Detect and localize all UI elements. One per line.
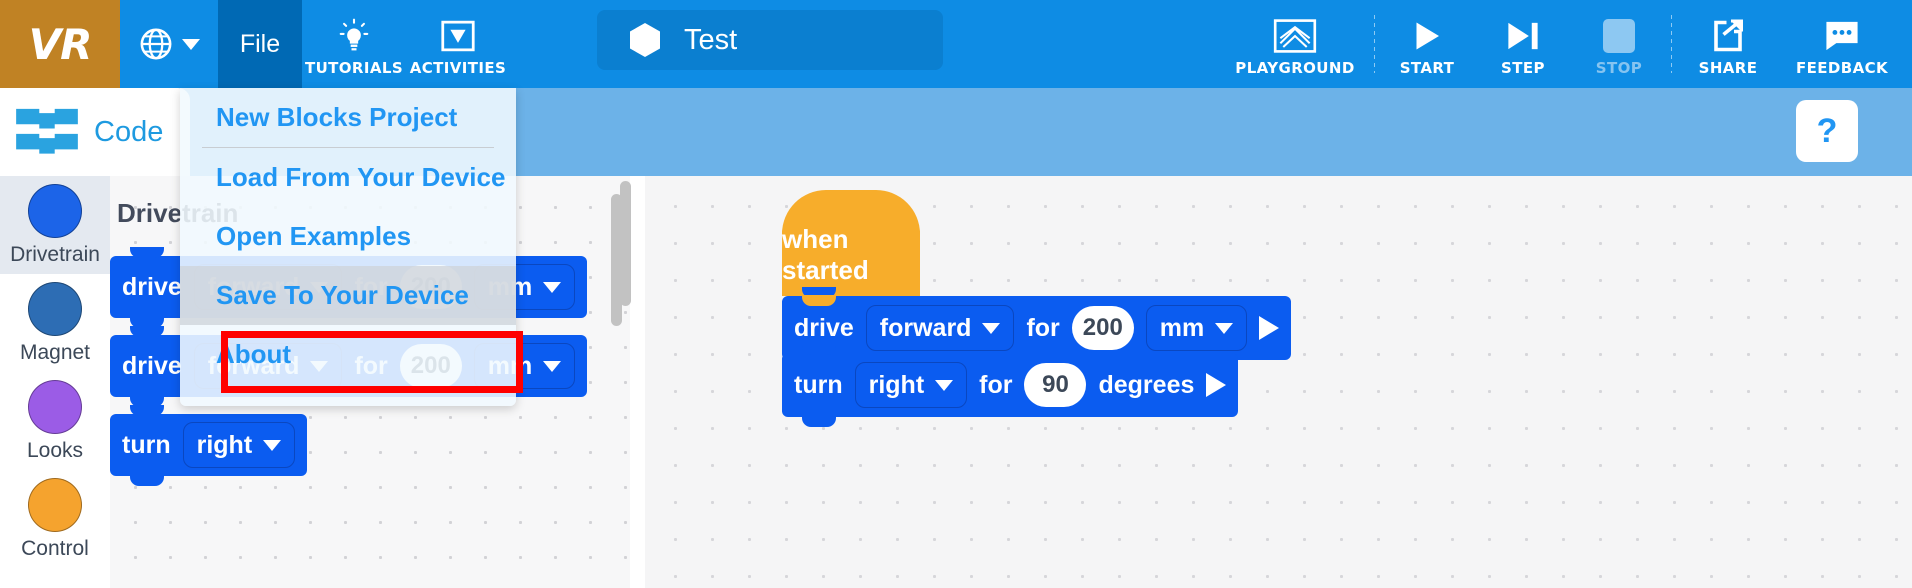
tab-code-label: Code (94, 116, 163, 149)
block-unit-label: degrees (1098, 371, 1194, 400)
file-menu-label: File (240, 30, 280, 59)
playground-button[interactable]: PLAYGROUND (1220, 0, 1370, 88)
menu-item-open-examples[interactable]: Open Examples (180, 207, 516, 266)
menu-item-save-to-your-device[interactable]: Save To Your Device (180, 266, 516, 325)
tutorials-button[interactable]: TUTORIALS (302, 0, 406, 88)
checkbox-down-icon (440, 16, 476, 56)
playground-icon (1273, 16, 1317, 56)
start-button[interactable]: START (1379, 0, 1475, 88)
block-for-label: for (979, 371, 1012, 400)
sidebar-item-label: Looks (27, 439, 83, 463)
run-block-icon[interactable] (1206, 373, 1226, 397)
vr-logo-text: VR (29, 20, 92, 69)
top-toolbar: VR File (0, 0, 1912, 88)
share-button[interactable]: SHARE (1676, 0, 1780, 88)
hat-notch-shape (802, 295, 836, 306)
sidebar-item-control[interactable]: Control (0, 470, 110, 568)
activities-button[interactable]: ACTIVITIES (406, 0, 510, 88)
tutorials-label: TUTORIALS (305, 59, 403, 77)
chevron-down-icon (1215, 323, 1233, 334)
sidebar-item-drivetrain[interactable]: Drivetrain (0, 176, 110, 274)
blocks-icon (14, 105, 80, 159)
sidebar-item-looks[interactable]: Looks (0, 372, 110, 470)
chevron-down-icon (935, 380, 953, 391)
dropdown-value: right (869, 371, 925, 400)
toolbar-right-group: PLAYGROUND START STEP (1220, 0, 1912, 88)
block-value-input[interactable]: 90 (1024, 363, 1086, 407)
menu-item-label: Open Examples (216, 221, 411, 252)
block-verb: drive (122, 352, 182, 381)
share-label: SHARE (1699, 59, 1758, 77)
menu-item-about[interactable]: About (180, 325, 516, 384)
block-direction-dropdown[interactable]: forward (866, 305, 1015, 351)
playground-label: PLAYGROUND (1235, 59, 1354, 77)
vr-logo: VR (0, 0, 120, 88)
tab-code[interactable]: Code (0, 88, 190, 176)
block-verb: drive (794, 314, 854, 343)
sidebar-item-magnet[interactable]: Magnet (0, 274, 110, 372)
step-button[interactable]: STEP (1475, 0, 1571, 88)
dropdown-value: forward (880, 314, 972, 343)
start-label: START (1400, 59, 1455, 77)
block-verb: turn (122, 431, 171, 460)
app-root: VR File (0, 0, 1912, 588)
stop-label: STOP (1596, 59, 1642, 77)
workspace-block-drive[interactable]: drive forward for 200 mm (782, 296, 1291, 360)
step-icon (1504, 16, 1542, 56)
language-button[interactable] (120, 0, 218, 88)
menu-item-label: Save To Your Device (216, 280, 469, 311)
workspace-block-turn[interactable]: turn right for 90 degrees (782, 353, 1238, 417)
activities-label: ACTIVITIES (410, 59, 506, 77)
sidebar-item-label: Control (21, 537, 89, 561)
block-value-input[interactable]: 200 (1072, 306, 1134, 350)
feedback-label: FEEDBACK (1796, 59, 1888, 77)
menu-item-label: Load From Your Device (216, 162, 505, 193)
project-name-text: Test (684, 24, 737, 57)
drivetrain-color-icon (28, 184, 82, 238)
chevron-down-icon (982, 323, 1000, 334)
dropdown-value: mm (1160, 314, 1204, 343)
toolbar-divider (1374, 15, 1375, 73)
looks-color-icon (28, 380, 82, 434)
palette-block-turn[interactable]: turn right (110, 414, 307, 476)
block-verb: drive (122, 273, 182, 302)
stop-icon (1603, 16, 1635, 56)
help-icon: ? (1817, 112, 1838, 151)
share-icon (1710, 16, 1746, 56)
category-rail: Drivetrain Magnet Looks Control (0, 176, 110, 588)
when-started-block[interactable]: when started (782, 226, 920, 296)
stop-button[interactable]: STOP (1571, 0, 1667, 88)
feedback-button[interactable]: FEEDBACK (1780, 0, 1904, 88)
file-dropdown-menu: New Blocks Project Load From Your Device… (180, 88, 516, 406)
step-label: STEP (1501, 59, 1545, 77)
dropdown-value: right (197, 431, 253, 460)
menu-item-new-blocks-project[interactable]: New Blocks Project (180, 88, 516, 147)
menu-item-load-from-your-device[interactable]: Load From Your Device (180, 148, 516, 207)
code-workspace[interactable]: when started drive forward for 200 mm tu… (645, 176, 1912, 588)
file-menu-button[interactable]: File (218, 0, 302, 88)
when-started-label: when started (782, 224, 920, 286)
chevron-down-icon (543, 361, 561, 372)
sidebar-item-label: Magnet (20, 341, 90, 365)
menu-item-label: New Blocks Project (216, 102, 457, 133)
block-verb: turn (794, 371, 843, 400)
block-unit-dropdown[interactable]: mm (1146, 305, 1247, 351)
lightbulb-icon (337, 16, 371, 56)
hexagon-icon (630, 23, 660, 57)
chevron-down-icon (543, 282, 561, 293)
run-block-icon[interactable] (1259, 316, 1279, 340)
workspace-scrollbar[interactable] (620, 181, 631, 306)
chevron-down-icon (263, 440, 281, 451)
block-for-label: for (1026, 314, 1059, 343)
magnet-color-icon (28, 282, 82, 336)
play-icon (1409, 16, 1445, 56)
feedback-icon (1823, 16, 1861, 56)
block-direction-dropdown[interactable]: right (855, 362, 968, 408)
sidebar-item-label: Drivetrain (10, 243, 100, 267)
toolbar-divider-2 (1671, 15, 1672, 73)
block-direction-dropdown[interactable]: right (183, 422, 296, 468)
project-name-field[interactable]: Test (597, 10, 943, 70)
control-color-icon (28, 478, 82, 532)
globe-icon (139, 27, 173, 61)
help-button[interactable]: ? (1796, 100, 1858, 162)
chevron-down-icon (182, 39, 200, 50)
menu-item-label: About (216, 339, 291, 370)
